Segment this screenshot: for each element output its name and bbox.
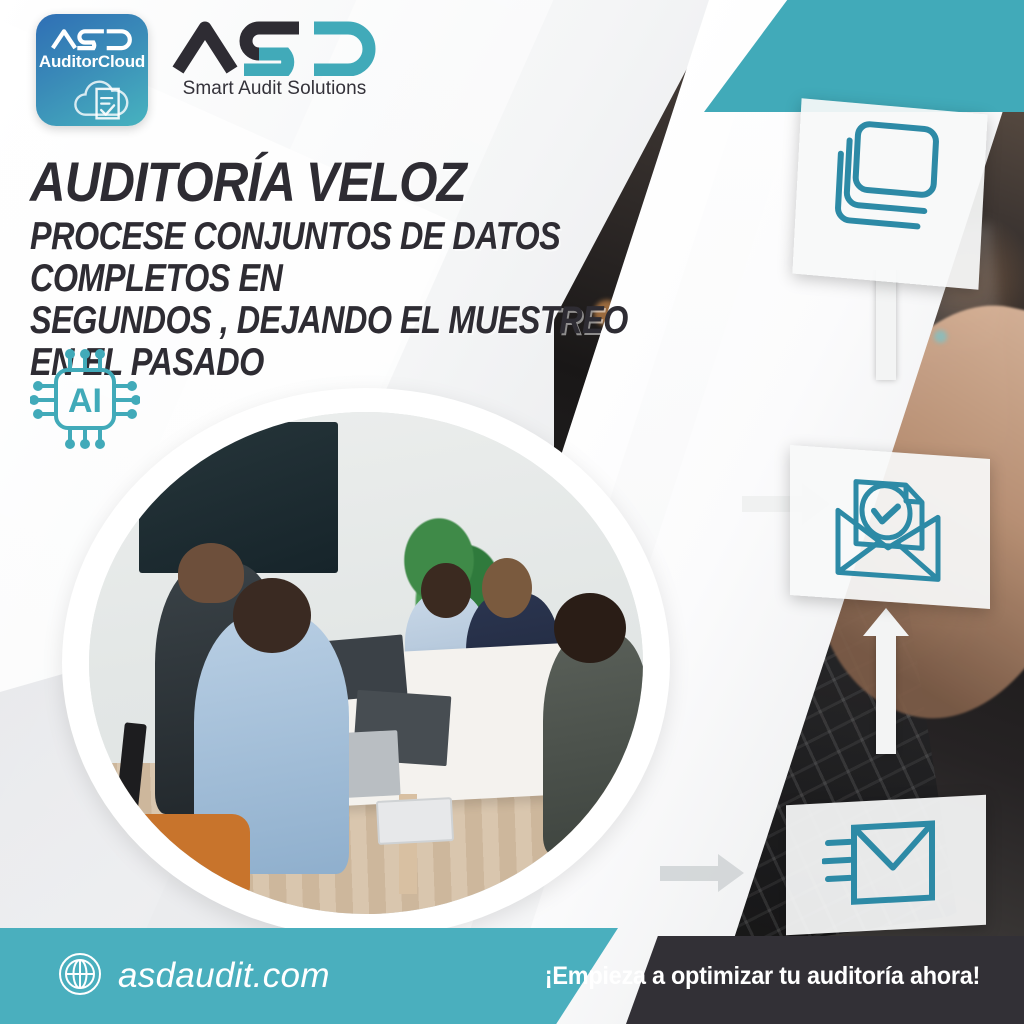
card-send-mail [786, 795, 986, 935]
photo-person [543, 633, 643, 854]
auditorcloud-badge: AuditorCloud [36, 14, 148, 126]
arrow-up-2 [876, 634, 896, 754]
badge-asd-logo-icon [50, 26, 134, 52]
photo-chair [128, 814, 250, 904]
team-meeting-photo [89, 412, 643, 914]
asd-tagline: Smart Audit Solutions [172, 78, 377, 100]
photo-person-head [233, 578, 311, 653]
team-photo-circle [62, 388, 670, 938]
open-envelope-document-check-icon [824, 457, 956, 594]
page-title: AUDITORÍA VELOZ [30, 155, 681, 210]
bokeh-light [934, 330, 947, 343]
photo-tv-screen [139, 422, 338, 573]
globe-icon [58, 952, 102, 996]
website-url[interactable]: asdaudit.com [118, 956, 330, 996]
photo-person-head [421, 563, 471, 618]
sending-envelope-icon [822, 809, 942, 919]
badge-product-name: AuditorCloud [36, 52, 148, 72]
asd-logo-icon [172, 18, 377, 76]
cta-text: ¡Empieza a optimizar tu auditoría ahora! [545, 962, 980, 991]
photo-tablet [376, 797, 454, 845]
headline-subtitle-line-1: PROCESE CONJUNTOS DE DATOS COMPLETOS EN [30, 216, 644, 300]
headline-block: AUDITORÍA VELOZ PROCESE CONJUNTOS DE DAT… [30, 155, 770, 384]
card-verified-mail [790, 445, 990, 609]
photo-person-head [178, 543, 244, 603]
asd-wordmark: Smart Audit Solutions [172, 18, 377, 110]
stacked-documents-icon [831, 113, 957, 241]
footer-bar: asdaudit.com ¡Empieza a optimizar tu aud… [0, 928, 1024, 1024]
arrow-up-1 [876, 268, 896, 380]
promo-poster: AuditorCloud Smart Audit Solutions AUDIT… [0, 0, 1024, 1024]
photo-person-head [554, 593, 626, 663]
photo-person-head [482, 558, 532, 618]
card-documents [792, 98, 987, 289]
cloud-document-check-icon [70, 76, 136, 122]
